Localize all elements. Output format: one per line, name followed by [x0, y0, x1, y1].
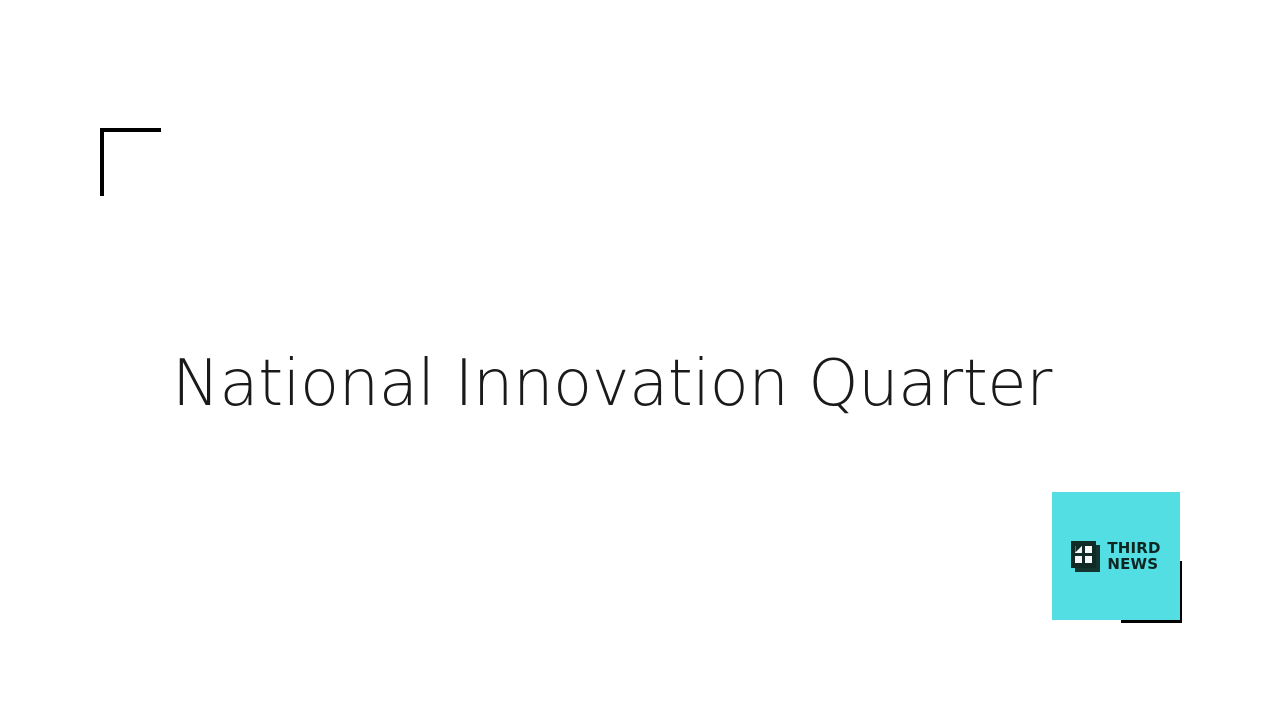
newspaper-window-icon-pane-top-right: [1085, 546, 1092, 553]
logo-lockup: THIRD NEWS: [1052, 492, 1180, 620]
newspaper-window-icon: [1071, 541, 1100, 572]
logo-block: THIRD NEWS: [1052, 492, 1182, 624]
corner-bracket-top-left-icon: [100, 128, 161, 196]
newspaper-window-icon-pane-bottom-left: [1075, 556, 1082, 563]
logo-wordmark-line-1: THIRD: [1107, 540, 1160, 556]
logo-wordmark: THIRD NEWS: [1107, 540, 1160, 572]
logo-wordmark-line-2: NEWS: [1107, 556, 1160, 572]
page-title: National Innovation Quarter: [172, 345, 1072, 423]
slide-canvas: National Innovation Quarter THIRD NEWS: [0, 0, 1280, 720]
newspaper-window-icon-pane-bottom-right: [1085, 556, 1092, 563]
